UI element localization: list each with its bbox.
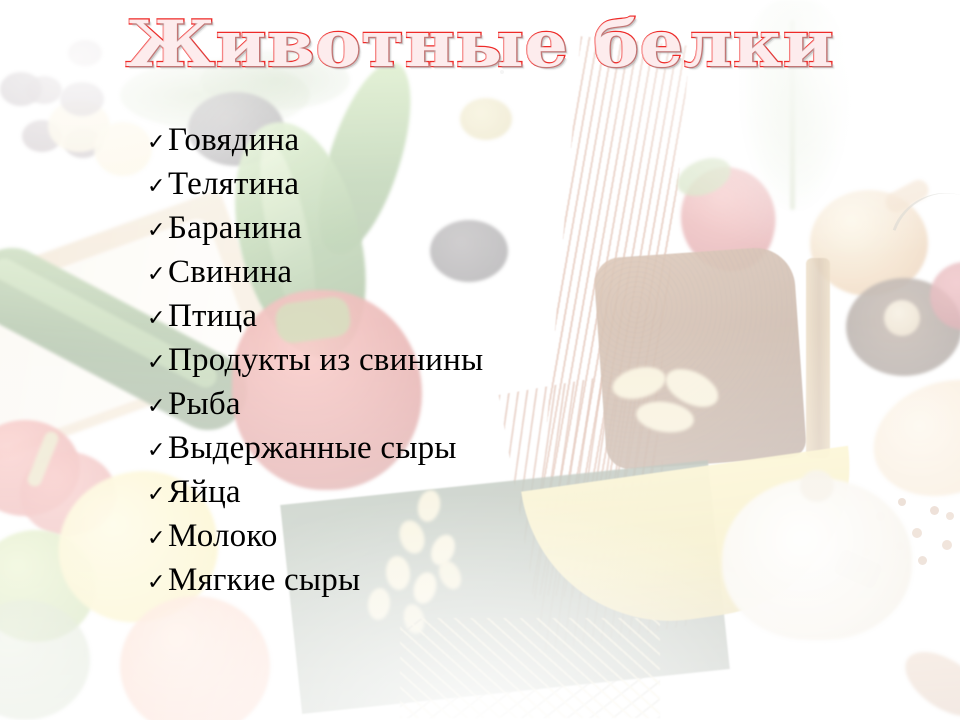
peppercorn-shape [930, 506, 939, 515]
date-fruit-shape [894, 639, 960, 720]
checkmark-icon: ✓ [147, 561, 168, 605]
checkmark-icon: ✓ [147, 253, 168, 297]
checkmark-icon: ✓ [147, 297, 168, 341]
egg-shape [858, 362, 960, 515]
list-item-label: Говядина [168, 118, 299, 162]
checkmark-icon: ✓ [147, 385, 168, 429]
dried-berry-shape [26, 76, 62, 104]
rice-grains-shape [400, 618, 660, 718]
crumb-shape [470, 38, 475, 43]
list-item: ✓ Говядина [147, 118, 847, 162]
checkmark-icon: ✓ [147, 429, 168, 473]
list-item-label: Рыба [168, 382, 241, 426]
checkmark-icon: ✓ [147, 165, 168, 209]
checkmark-icon: ✓ [147, 473, 168, 517]
list-item-label: Баранина [168, 206, 302, 250]
list-item: ✓ Молоко [147, 514, 847, 558]
peppercorn-shape [898, 498, 906, 506]
list-item: ✓ Телятина [147, 162, 847, 206]
slide: Животные белки ✓ Говядина ✓ Телятина ✓ Б… [0, 0, 960, 720]
peppercorn-shape [942, 540, 952, 550]
list-item-label: Мягкие сыры [168, 558, 360, 602]
peppercorn-shape [946, 512, 954, 520]
peach-shape [120, 596, 270, 720]
list-item: ✓ Рыба [147, 382, 847, 426]
list-item-label: Продукты из свинины [168, 338, 483, 382]
list-item-label: Яйца [168, 470, 241, 514]
peppercorn-shape [912, 528, 922, 538]
bullet-list: ✓ Говядина ✓ Телятина ✓ Баранина ✓ Свини… [147, 118, 847, 602]
list-item: ✓ Мягкие сыры [147, 558, 847, 602]
list-item-label: Молоко [168, 514, 278, 558]
checkmark-icon: ✓ [147, 121, 168, 165]
mushroom-stem-shape [884, 300, 920, 336]
list-item: ✓ Свинина [147, 250, 847, 294]
crumb-shape [486, 50, 490, 54]
checkmark-icon: ✓ [147, 209, 168, 253]
list-item: ✓ Птица [147, 294, 847, 338]
crumb-shape [458, 60, 463, 65]
list-item-label: Телятина [168, 162, 299, 206]
list-item: ✓ Яйца [147, 470, 847, 514]
prune-shape [68, 40, 102, 66]
crumb-shape [500, 70, 504, 74]
checkmark-icon: ✓ [147, 517, 168, 561]
list-item-label: Птица [168, 294, 257, 338]
checkmark-icon: ✓ [147, 341, 168, 385]
dried-apricot-shape [94, 122, 152, 176]
list-item-label: Выдержанные сыры [168, 426, 457, 470]
list-item: ✓ Продукты из свинины [147, 338, 847, 382]
list-item: ✓ Выдержанные сыры [147, 426, 847, 470]
peppercorn-shape [918, 556, 927, 565]
prune-shape [60, 82, 104, 116]
list-item-label: Свинина [168, 250, 292, 294]
list-item: ✓ Баранина [147, 206, 847, 250]
